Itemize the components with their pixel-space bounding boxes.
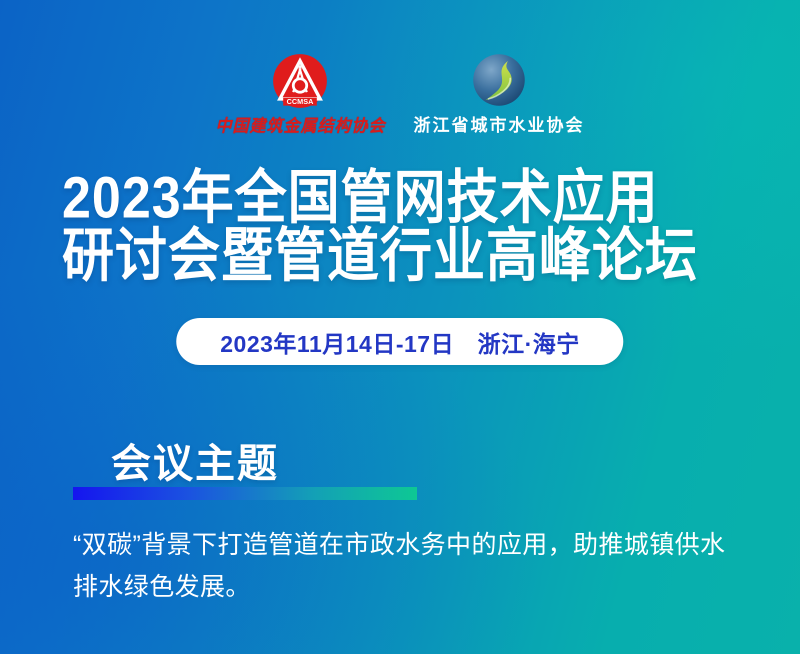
svg-text:CCMSA: CCMSA — [287, 97, 314, 106]
organizer-ccmsa: CCMSA 中国建筑金属结构协会 — [215, 53, 385, 136]
conference-poster: CCMSA 中国建筑金属结构协会 — [0, 0, 800, 654]
theme-heading-group: 会议主题 — [73, 440, 750, 502]
title-line-1: 2023年全国管网技术应用 — [62, 166, 760, 231]
date-venue-text: 2023年11月14日-17日 浙江·海宁 — [220, 325, 579, 359]
organizer-name-zjwater: 浙江省城市水业协会 — [414, 111, 585, 136]
organizer-zjwater: 浙江省城市水业协会 — [414, 52, 585, 136]
theme-heading: 会议主题 — [111, 440, 279, 488]
title-line-2: 研讨会暨管道行业高峰论坛 — [62, 224, 760, 289]
theme-underline-bar — [73, 487, 417, 500]
date-venue-badge: 2023年11月14日-17日 浙江·海宁 — [176, 318, 623, 365]
page-title: 2023年全国管网技术应用 研讨会暨管道行业高峰论坛 — [62, 166, 760, 282]
theme-section: 会议主题 “双碳”背景下打造管道在市政水务中的应用，助推城镇供水排水绿色发展。 — [73, 440, 750, 608]
theme-body-text: “双碳”背景下打造管道在市政水务中的应用，助推城镇供水排水绿色发展。 — [73, 524, 750, 608]
ccmsa-triangle-emblem-icon: CCMSA — [272, 53, 328, 109]
water-sphere-wave-icon — [471, 52, 527, 108]
organizer-name-ccmsa: 中国建筑金属结构协会 — [215, 111, 385, 136]
organizer-logo-row: CCMSA 中国建筑金属结构协会 — [0, 52, 800, 136]
